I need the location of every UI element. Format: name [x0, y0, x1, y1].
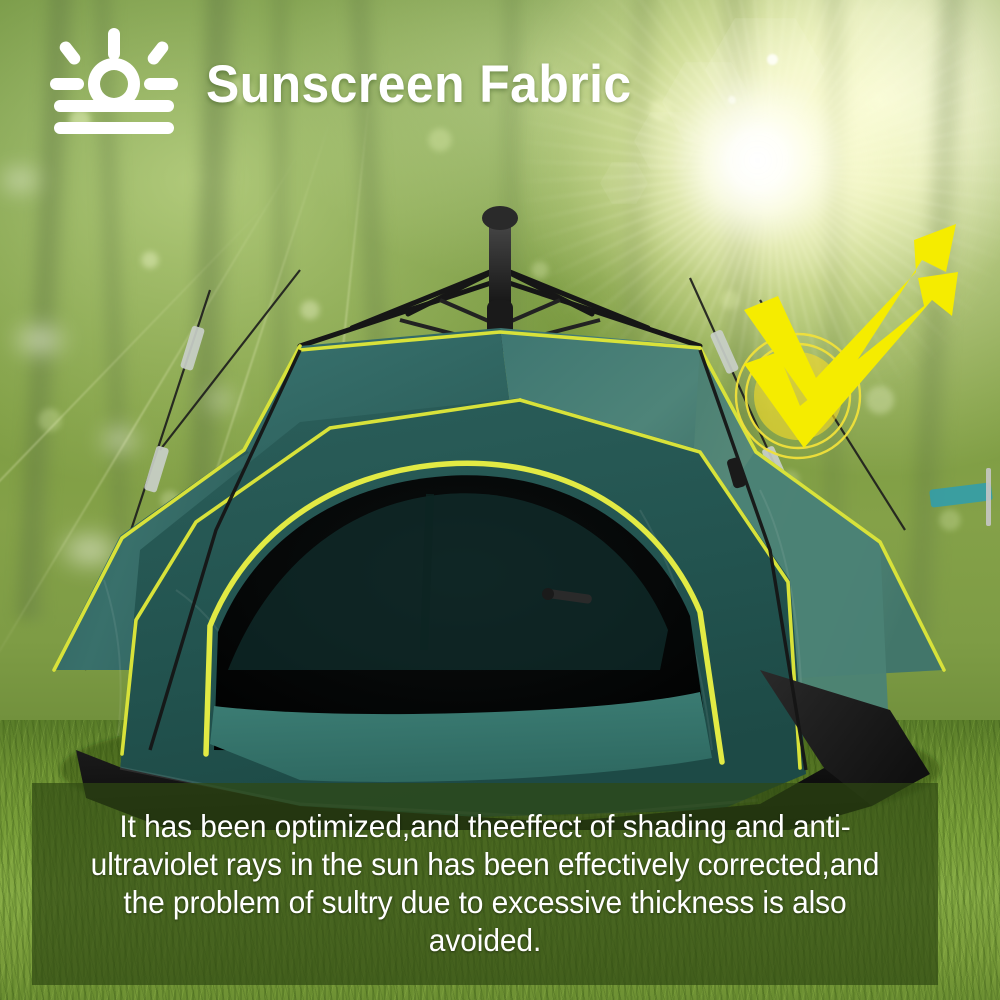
caption-band: It has been optimized,and theeffect of s…: [32, 783, 938, 985]
lens-flare-dot: [728, 96, 736, 104]
header: Sunscreen Fabric: [48, 22, 659, 146]
sunrise-sun-icon: [48, 22, 180, 146]
uv-reflect-graphic: [700, 200, 1000, 500]
promo-banner: Sunscreen Fabric It has been optimized,a…: [0, 0, 1000, 1000]
page-title: Sunscreen Fabric: [206, 58, 632, 111]
lens-flare-dot: [767, 54, 778, 65]
caption-text: It has been optimized,and theeffect of s…: [55, 808, 916, 959]
